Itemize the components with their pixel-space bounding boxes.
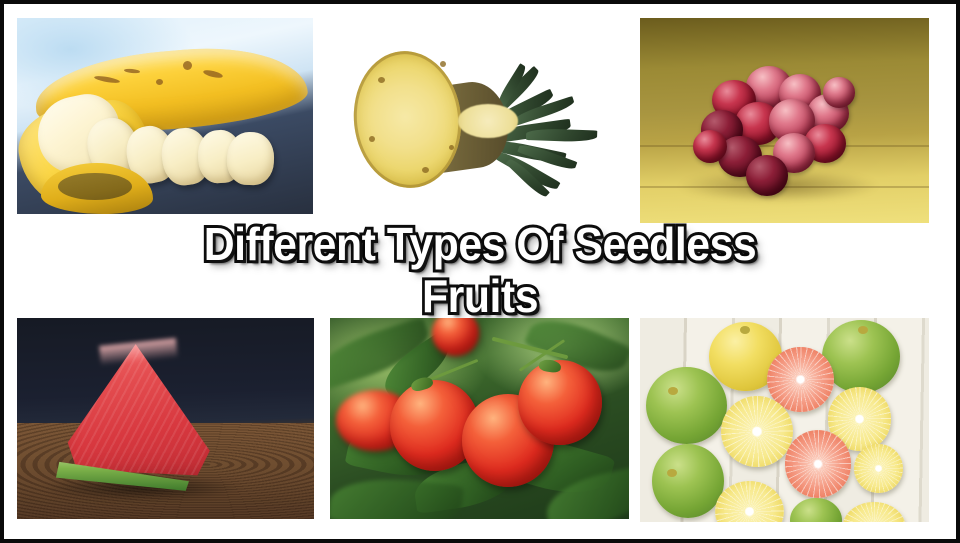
title-line-2: Fruits xyxy=(37,270,922,322)
grapefruit-half xyxy=(785,430,851,497)
lemon-half xyxy=(721,396,793,467)
grape-berry xyxy=(823,77,855,108)
citrus-stem-nub xyxy=(667,469,677,477)
whole-lime xyxy=(822,320,900,393)
grapes-photo xyxy=(640,18,929,223)
whole-lime xyxy=(646,367,727,445)
citrus-pulp-rays xyxy=(842,502,906,522)
banana-slice-shape xyxy=(226,131,275,186)
pineapple-eye-icon xyxy=(369,136,375,142)
citrus-pulp-rays xyxy=(721,396,793,467)
citrus-pulp-rays xyxy=(715,481,784,522)
banana-spot-icon xyxy=(183,61,192,70)
tomatoes-photo xyxy=(330,318,629,519)
tomatoes-photo-canvas xyxy=(330,318,629,519)
whole-lime xyxy=(652,444,724,517)
poster-canvas: Different Types Of Seedless Fruits xyxy=(0,0,960,543)
pineapple-core-shape xyxy=(458,104,518,137)
watermelon-top-edge xyxy=(99,338,178,366)
grape-bunch-group xyxy=(689,63,880,202)
grapes-photo-canvas xyxy=(640,18,929,223)
poster-title: Different Types Of Seedless Fruits xyxy=(4,218,956,322)
tomato-fruit xyxy=(518,360,602,444)
grape-berry xyxy=(746,155,788,195)
title-line-1: Different Types Of Seedless xyxy=(37,218,922,270)
pineapple-photo-canvas xyxy=(330,18,628,214)
watermelon-photo-canvas xyxy=(17,318,314,519)
banana-photo xyxy=(17,18,313,214)
citrus-stem-nub xyxy=(668,387,678,395)
citrus-stem-nub xyxy=(858,326,868,334)
pineapple-eye-icon xyxy=(378,77,385,83)
citrus-stem-nub xyxy=(740,326,750,334)
banana-spot-icon xyxy=(156,79,163,85)
lemon-slice xyxy=(854,444,903,493)
banana-photo-canvas xyxy=(17,18,313,214)
pineapple-photo xyxy=(330,18,628,214)
lemon-half xyxy=(715,481,784,522)
pineapple-leaf-shape xyxy=(526,128,598,142)
citrus-photo xyxy=(640,318,929,522)
lemon-half xyxy=(842,502,906,522)
watermelon-grain-texture xyxy=(62,344,216,481)
watermelon-photo xyxy=(17,318,314,519)
citrus-pulp-rays xyxy=(785,430,851,497)
citrus-photo-canvas xyxy=(640,318,929,522)
whole-lime xyxy=(790,498,842,522)
pineapple-eye-icon xyxy=(440,61,446,67)
citrus-pulp-rays xyxy=(854,444,903,493)
